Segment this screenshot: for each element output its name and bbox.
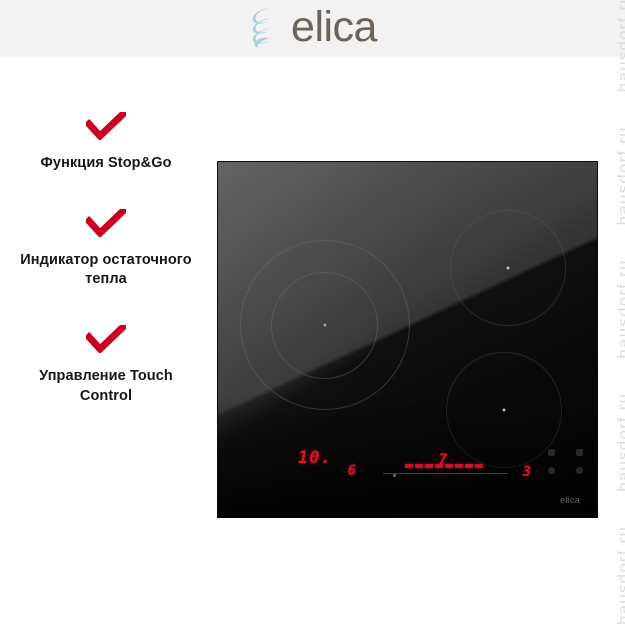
timer-value: 10. [298,450,332,467]
cooktop-brand-label: elica [560,495,580,505]
watermark-text: hausdorf.ru [614,526,625,625]
cooking-zone-left-center-dot [324,324,327,327]
timer-display[interactable]: 10. ····· [298,450,332,477]
brand-wordmark: elica [291,6,377,49]
zone-level-readout-left[interactable]: ◂ 6 ▸ [340,464,364,478]
feature-label: Функция Stop&Go [0,154,212,173]
feature-item-residual-heat: Индикатор остаточного тепла [0,209,212,289]
feature-list: Функция Stop&Go Индикатор остаточного те… [0,112,212,442]
left-arrow-icon[interactable]: ◂ [515,469,519,475]
power-slider-segments [405,464,508,468]
watermark-text: hausdorf.ru [614,393,625,492]
zone-level-value: 6 [348,464,356,478]
header-band: elica [0,0,625,57]
red-checkmark-icon [86,325,126,353]
power-slider-track[interactable] [383,473,508,474]
zone-level-readout-right[interactable]: ◂ 3 ▸ [515,465,539,479]
power-slider-knob[interactable] [393,474,396,477]
right-arrow-icon[interactable]: ▸ [360,468,364,474]
timer-sublabels: ····· [298,471,332,477]
feature-label: Управление Touch Control [0,367,212,405]
touch-control-panel[interactable]: 10. ····· ◂ 6 ▸ ◂ 7 ▸ ◂ 3 ▸ [218,431,597,517]
touch-key-timer-icon[interactable] [548,449,555,456]
cooking-zone-top-right-center-dot [507,267,510,270]
touch-key-power-icon[interactable] [576,467,583,474]
feature-item-touch-control: Управление Touch Control [0,325,212,405]
induction-cooktop-image: 10. ····· ◂ 6 ▸ ◂ 7 ▸ ◂ 3 ▸ [218,162,597,517]
feature-item-stop-and-go: Функция Stop&Go [0,112,212,173]
left-arrow-icon[interactable]: ◂ [431,457,435,463]
power-slider[interactable] [383,464,508,474]
left-arrow-icon[interactable]: ◂ [340,468,344,474]
red-checkmark-icon [86,112,126,140]
watermark-text: hausdorf.ru [614,126,625,225]
watermark-text-strip: hausdorf.ru hausdorf.ru hausdorf.ru haus… [603,0,625,625]
elica-swirl-icon [248,7,282,49]
brand-logo: elica [248,6,377,49]
zone-level-value: 3 [523,465,531,479]
touch-key-pause-icon[interactable] [548,467,555,474]
watermark-text: hausdorf.ru [614,259,625,358]
feature-label: Индикатор остаточного тепла [0,251,212,289]
right-arrow-icon[interactable]: ▸ [535,469,539,475]
touch-key-lock-icon[interactable] [576,449,583,456]
right-arrow-icon[interactable]: ▸ [451,457,455,463]
cooking-zone-bottom-right-center-dot [503,409,506,412]
red-checkmark-icon [86,209,126,237]
touch-key-group[interactable] [548,449,588,474]
